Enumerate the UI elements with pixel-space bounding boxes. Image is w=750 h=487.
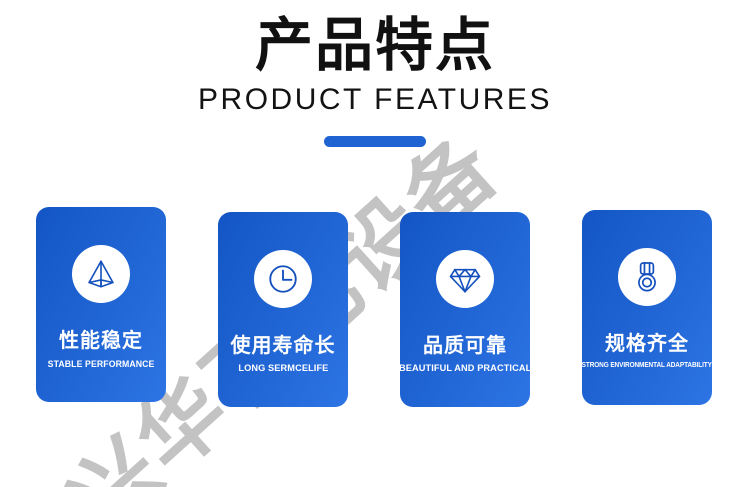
- card-title-en: LONG SERMCELIFE: [238, 364, 328, 375]
- card-title-en: BEAUTIFUL AND PRACTICAL: [400, 364, 530, 375]
- feature-card-stable-performance[interactable]: 性能稳定 STABLE PERFORMANCE: [36, 207, 166, 402]
- medal-icon: [630, 260, 664, 294]
- card-title-en: STRONG ENVIRONMENTAL ADAPTABILITY: [582, 362, 712, 370]
- icon-badge: [72, 245, 130, 303]
- card-title-en: STABLE PERFORMANCE: [48, 359, 155, 369]
- card-title-cn: 性能稳定: [59, 329, 143, 352]
- blue-pill-divider: [324, 136, 426, 147]
- diamond-icon: [448, 262, 482, 296]
- feature-card-long-service-life[interactable]: 使用寿命长 LONG SERMCELIFE: [218, 212, 348, 407]
- page-title-cn: 产品特点: [0, 0, 750, 77]
- icon-badge: [618, 248, 676, 306]
- pyramid-icon: [84, 257, 118, 291]
- card-title-cn: 规格齐全: [605, 332, 689, 355]
- icon-badge: [436, 250, 494, 308]
- product-features-banner: 兴华石化设备 产品特点 PRODUCT FEATURES 性能稳: [0, 0, 750, 487]
- feature-card-list: 性能稳定 STABLE PERFORMANCE 使用寿命长 LONG SERMC…: [0, 202, 750, 417]
- icon-badge: [254, 250, 312, 308]
- card-title-cn: 使用寿命长: [231, 334, 336, 357]
- card-title-cn: 品质可靠: [423, 334, 507, 357]
- clock-icon: [266, 262, 300, 296]
- header: 产品特点 PRODUCT FEATURES: [0, 0, 750, 148]
- feature-card-quality-reliable[interactable]: 品质可靠 BEAUTIFUL AND PRACTICAL: [400, 212, 530, 407]
- divider-wrap: [0, 136, 750, 148]
- page-title-en: PRODUCT FEATURES: [0, 77, 750, 116]
- feature-card-full-specifications[interactable]: 规格齐全 STRONG ENVIRONMENTAL ADAPTABILITY: [582, 210, 712, 405]
